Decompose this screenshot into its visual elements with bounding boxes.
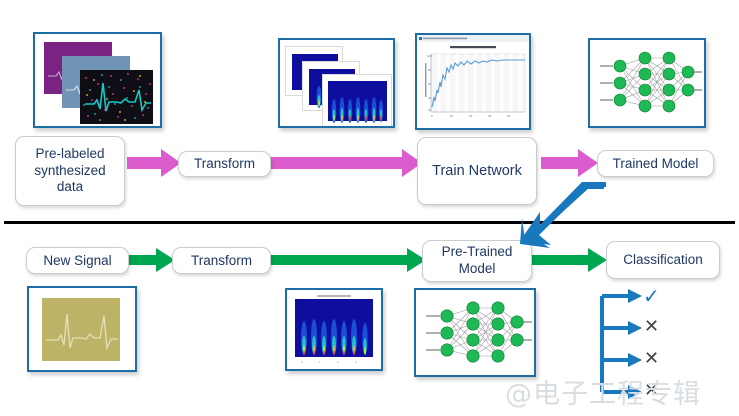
- trained-model-label: Trained Model: [613, 156, 699, 172]
- pre-trained-model-label: Pre-Trained Model: [442, 244, 513, 278]
- arrow-data-to-transform: [127, 147, 182, 179]
- transform-box-top[interactable]: Transform: [178, 151, 271, 177]
- svg-text:2: 2: [337, 360, 339, 364]
- pre-labeled-synthesized-data-label: Pre-labeled synthesized data: [34, 146, 105, 197]
- pre-trained-model-box[interactable]: Pre-Trained Model: [422, 240, 532, 282]
- trained-model-box[interactable]: Trained Model: [597, 150, 714, 177]
- pre-labeled-synthesized-data-box[interactable]: Pre-labeled synthesized data: [15, 136, 125, 206]
- classification-box[interactable]: Classification: [606, 241, 720, 279]
- arrow-transform-to-train: [268, 147, 423, 179]
- ecg-tile-dark: [80, 70, 153, 124]
- result-1-check-icon: ✓: [643, 284, 660, 308]
- watermark: @电子工程专辑: [505, 372, 701, 411]
- svg-text:10: 10: [450, 114, 454, 118]
- new-signal-box[interactable]: New Signal: [26, 247, 129, 274]
- svg-text:3: 3: [355, 360, 357, 364]
- svg-text:40: 40: [507, 114, 511, 118]
- result-3-cross-icon: ✕: [644, 348, 659, 369]
- new-signal-label: New Signal: [43, 253, 111, 269]
- new-ecg-signal-thumbnail: [27, 286, 137, 372]
- diagram-canvas: 10080 604020 01020 3040: [0, 0, 739, 416]
- svg-text:100: 100: [427, 54, 432, 58]
- section-divider: [4, 221, 735, 224]
- stacked-ecg-signals-thumbnail: [33, 32, 162, 128]
- neural-network-trained-thumbnail: [588, 38, 706, 128]
- transform-box-bottom[interactable]: Transform: [172, 247, 271, 274]
- svg-text:0: 0: [301, 360, 303, 364]
- training-progress-plot-thumbnail: 10080 604020 01020 3040: [415, 33, 531, 130]
- neural-network-pretrained-thumbnail: [414, 288, 536, 377]
- train-network-box[interactable]: Train Network: [417, 137, 537, 205]
- transform-label-top: Transform: [194, 156, 255, 172]
- svg-text:1: 1: [319, 360, 321, 364]
- svg-text:30: 30: [488, 114, 492, 118]
- arrow-transform-to-pretrained-model: [265, 247, 427, 273]
- new-scalogram-thumbnail: 0123: [285, 288, 383, 371]
- svg-text:20: 20: [469, 114, 473, 118]
- scalogram-tile-front: [322, 74, 392, 128]
- arrow-trained-model-to-pretrained-model: [520, 182, 606, 256]
- arrow-train-to-trained-model: [541, 147, 599, 179]
- result-2-cross-icon: ✕: [644, 316, 659, 337]
- arrow-new-signal-to-transform: [123, 247, 176, 273]
- stacked-scalograms-thumbnail: [278, 38, 395, 128]
- classification-label: Classification: [623, 252, 703, 268]
- train-network-label: Train Network: [432, 163, 522, 180]
- transform-label-bottom: Transform: [191, 253, 252, 269]
